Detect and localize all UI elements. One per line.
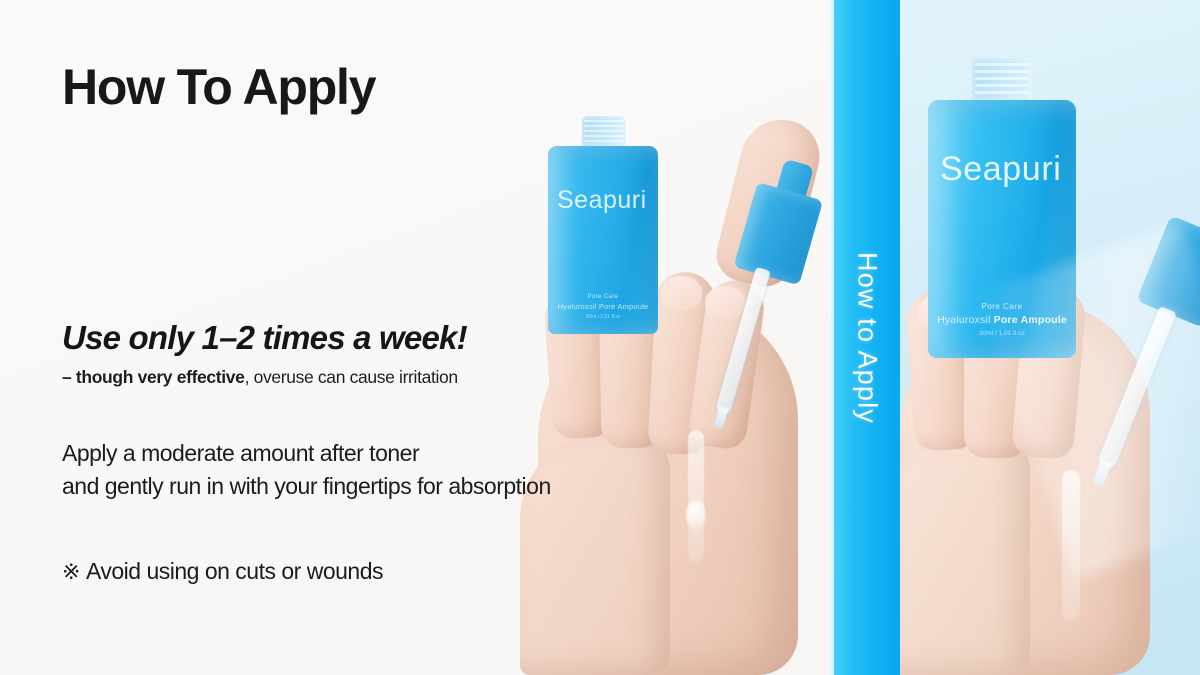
bottle-category-label: Pore Care xyxy=(548,294,658,300)
caution-note-text: Avoid using on cuts or wounds xyxy=(86,558,383,584)
bottle-sub-label: Pore Care Hyaluroxsil Pore Ampoule 30ml … xyxy=(548,294,658,320)
page-title: How To Apply xyxy=(62,62,375,112)
bottle-brand-label: Seapuri xyxy=(557,188,653,213)
bottle-neck xyxy=(972,58,1032,102)
bottle-product-name-bold: Pore Ampoule xyxy=(599,302,649,311)
serum-droplet xyxy=(686,500,706,530)
dropper-cap xyxy=(733,182,823,285)
left-content-panel: How To Apply Seapuri Pore Care xyxy=(0,0,834,675)
dropper-pipette xyxy=(1096,306,1176,470)
bottle-category-label: Pore Care xyxy=(928,302,1076,311)
usage-headline: Use only 1–2 times a week! xyxy=(62,320,467,357)
usage-frequency-block: Use only 1–2 times a week! – though very… xyxy=(62,320,467,388)
divider-gradient-fill: How to Apply xyxy=(834,0,900,675)
usage-subline-rest: , overuse can cause irritation xyxy=(245,367,458,387)
vertical-divider-bar: How to Apply xyxy=(830,0,900,675)
bottle-sub-label: Pore Care Hyaluroxsil Pore Ampoule 30ml … xyxy=(928,302,1076,337)
left-product-photo: Seapuri Pore Care Hyaluroxsil Pore Ampou… xyxy=(430,0,834,675)
bottle-product-name-light: Hyaluroxsil xyxy=(937,314,994,326)
bottle-volume-label: 30ml / 1.01 fl.oz xyxy=(928,330,1076,337)
caution-note: ※Avoid using on cuts or wounds xyxy=(62,558,383,585)
fingernail xyxy=(660,276,702,310)
product-bottle-large: Seapuri Pore Care Hyaluroxsil Pore Ampou… xyxy=(928,72,1076,360)
instruction-line-1: Apply a moderate amount after toner xyxy=(62,437,551,470)
divider-vertical-label: How to Apply xyxy=(852,252,883,424)
how-to-apply-slide: How To Apply Seapuri Pore Care xyxy=(0,0,1200,675)
bottle-brand-label: Seapuri xyxy=(940,152,1070,186)
usage-subline: – though very effective, overuse can cau… xyxy=(62,367,467,388)
bottle-neck xyxy=(582,116,626,148)
bottle-body: Seapuri Pore Care Hyaluroxsil Pore Ampou… xyxy=(548,146,658,334)
dropper-tip xyxy=(1092,459,1112,487)
dropper-pipette xyxy=(715,267,771,415)
instruction-line-2: and gently run in with your fingertips f… xyxy=(62,470,551,503)
bottle-product-name: Hyaluroxsil Pore Ampoule xyxy=(548,302,658,311)
reference-mark-icon: ※ xyxy=(62,559,80,584)
bottle-body: Seapuri Pore Care Hyaluroxsil Pore Ampou… xyxy=(928,100,1076,358)
right-product-photo: Seapuri Pore Care Hyaluroxsil Pore Ampou… xyxy=(900,0,1200,675)
serum-streak xyxy=(688,430,704,562)
hand-thumb-pad xyxy=(900,430,1030,675)
bottle-volume-label: 30ml / 1.01 fl.oz xyxy=(548,314,658,320)
dropper-tip xyxy=(713,406,728,430)
bottle-product-name: Hyaluroxsil Pore Ampoule xyxy=(928,314,1076,326)
bottle-product-name-bold: Pore Ampoule xyxy=(994,314,1067,326)
usage-subline-bold: – though very effective xyxy=(62,367,245,387)
application-instructions: Apply a moderate amount after toner and … xyxy=(62,437,551,504)
bottle-product-name-light: Hyaluroxsil xyxy=(558,302,599,311)
product-bottle-small: Seapuri Pore Care Hyaluroxsil Pore Ampou… xyxy=(548,118,658,333)
